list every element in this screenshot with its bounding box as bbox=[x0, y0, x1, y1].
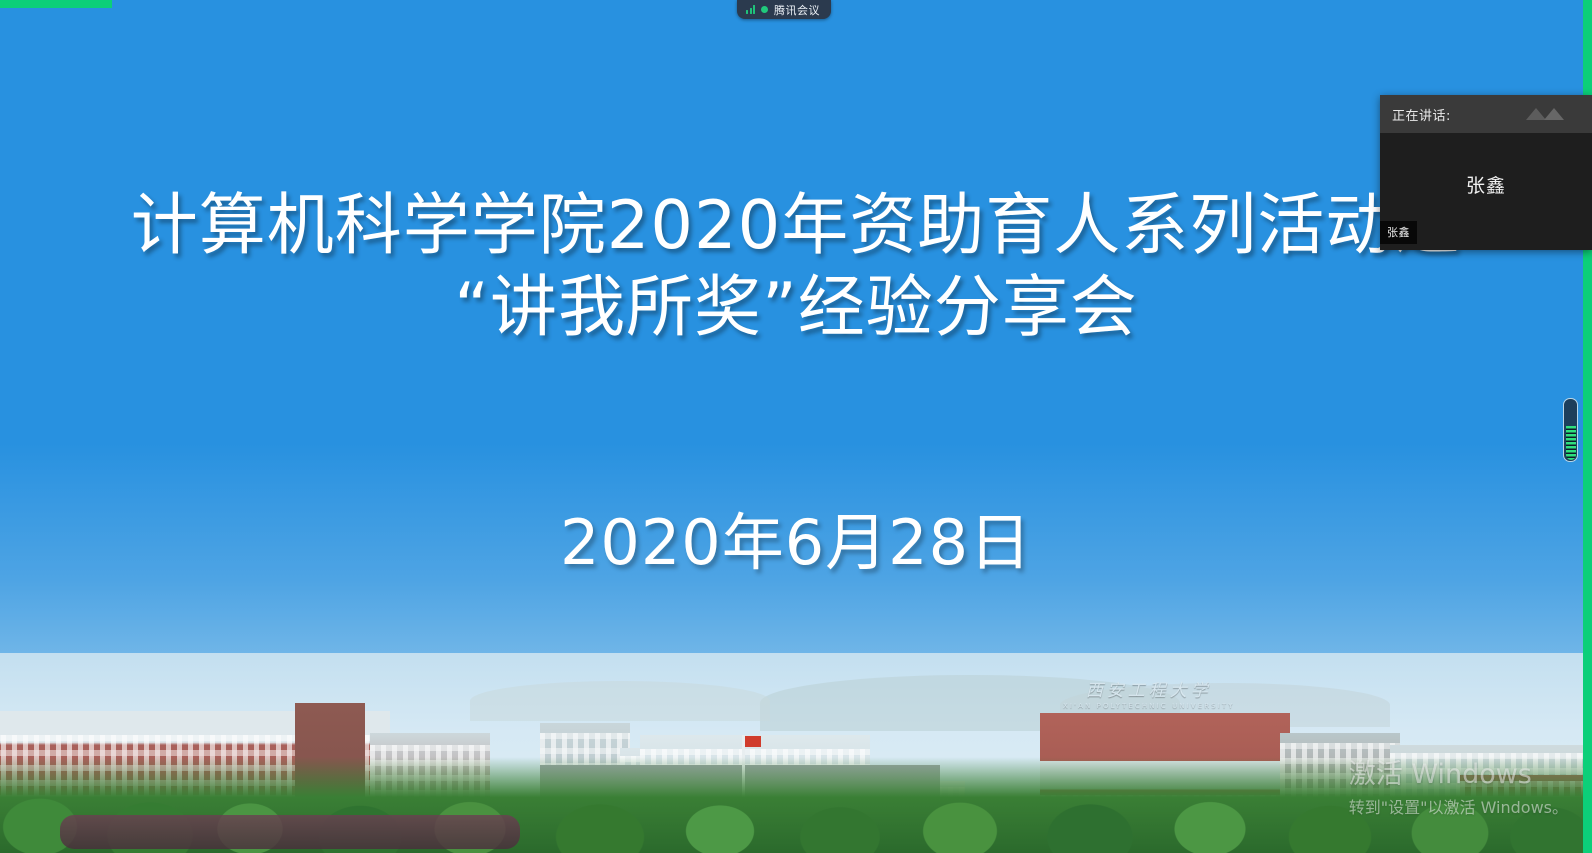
campus-hedge bbox=[60, 815, 520, 849]
slide-title-line-2: “讲我所奖”经验分享会 bbox=[0, 267, 1592, 349]
speaking-now-label: 正在讲话: bbox=[1392, 105, 1451, 124]
signal-bars-icon bbox=[746, 5, 755, 14]
speaker-video-panel[interactable]: 正在讲话: 张鑫 张鑫 bbox=[1380, 95, 1592, 250]
screen-share-border-top bbox=[0, 0, 112, 8]
speaker-name-tag: 张鑫 bbox=[1380, 221, 1417, 244]
campus-photo: 西安工程大学 XI'AN POLYTECHNIC UNIVERSITY bbox=[0, 653, 1592, 853]
shared-slide: 西安工程大学 XI'AN POLYTECHNIC UNIVERSITY 计算机科… bbox=[0, 0, 1592, 853]
slide-date: 2020年6月28日 bbox=[0, 492, 1592, 582]
tencent-meeting-label: 腾讯会议 bbox=[774, 2, 820, 18]
speaker-video-body: 张鑫 张鑫 bbox=[1380, 133, 1592, 250]
slide-title-line-1: 计算机科学学院2020年资助育人系列活动之 bbox=[0, 185, 1592, 267]
green-status-dot-icon bbox=[761, 6, 768, 13]
distant-hill bbox=[470, 681, 770, 721]
audio-level-fill bbox=[1566, 426, 1576, 460]
flag bbox=[745, 736, 761, 747]
speaker-name: 张鑫 bbox=[1466, 171, 1506, 198]
speaker-panel-header: 正在讲话: bbox=[1380, 95, 1592, 133]
tencent-meeting-pill[interactable]: 腾讯会议 bbox=[737, 0, 831, 19]
tencent-meeting-logo-icon bbox=[1524, 104, 1572, 124]
screen-share-viewport: 西安工程大学 XI'AN POLYTECHNIC UNIVERSITY 计算机科… bbox=[0, 0, 1592, 853]
audio-level-meter[interactable] bbox=[1563, 398, 1578, 462]
slide-title: 计算机科学学院2020年资助育人系列活动之 “讲我所奖”经验分享会 bbox=[0, 185, 1592, 348]
